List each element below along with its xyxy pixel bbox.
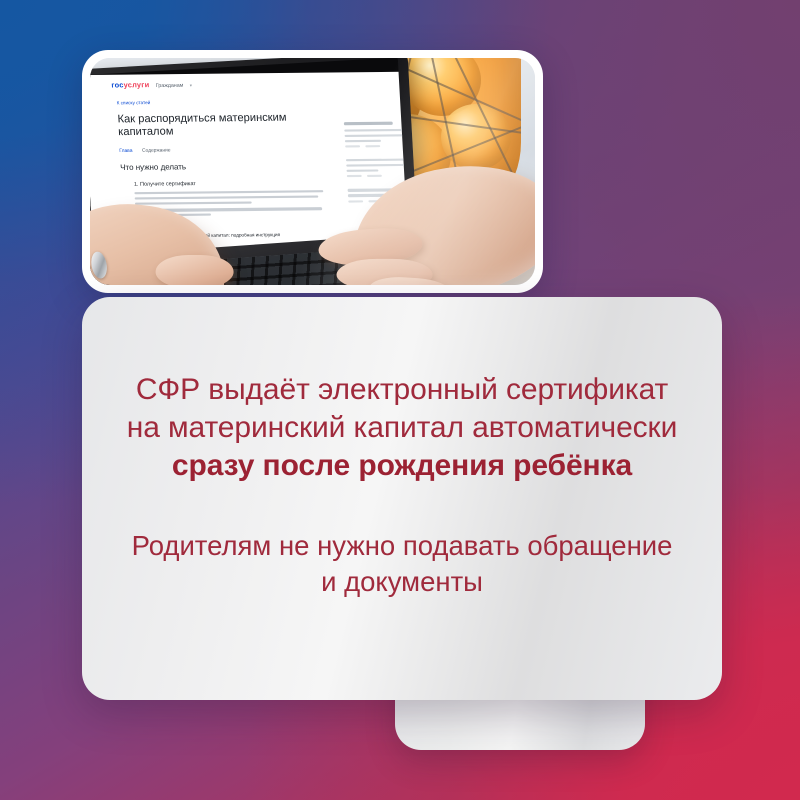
headline: СФР выдаёт электронный сертификат на мат… (126, 371, 678, 484)
text-card: СФР выдаёт электронный сертификат на мат… (82, 297, 722, 700)
finger (156, 255, 234, 285)
sidebar-card[interactable] (344, 128, 409, 147)
step-1-heading: 1. Получите сертификат (134, 179, 337, 187)
photo-image: госуслуги Гражданам ▾ К списку статей Ка… (90, 58, 535, 285)
subline: Родителям не нужно подавать обращение и … (126, 528, 678, 598)
headline-bold-part: сразу после рождения ребёнка (172, 449, 632, 482)
section-heading: Что нужно делать (120, 160, 336, 172)
sidebar-card[interactable] (346, 158, 409, 177)
tab-soderzhanie[interactable]: Содержание (142, 147, 171, 153)
article-tabs: Глава Содержание (119, 145, 335, 153)
audience-selector[interactable]: Гражданам (156, 82, 184, 89)
photo-card: госуслуги Гражданам ▾ К списку статей Ка… (82, 50, 543, 293)
step-1-paragraph (134, 190, 324, 205)
tab-glava[interactable]: Глава (119, 147, 132, 152)
sidebar-heading (344, 122, 393, 125)
poster: госуслуги Гражданам ▾ К списку статей Ка… (0, 0, 800, 800)
article-title: Как распорядиться материнским капиталом (117, 111, 334, 139)
orange-icon (441, 104, 511, 170)
wedding-ring-icon (90, 250, 109, 279)
chevron-down-icon: ▾ (190, 82, 192, 87)
gosuslugi-logo-icon: госуслуги (111, 82, 149, 90)
headline-regular-part: СФР выдаёт электронный сертификат на мат… (127, 373, 678, 444)
